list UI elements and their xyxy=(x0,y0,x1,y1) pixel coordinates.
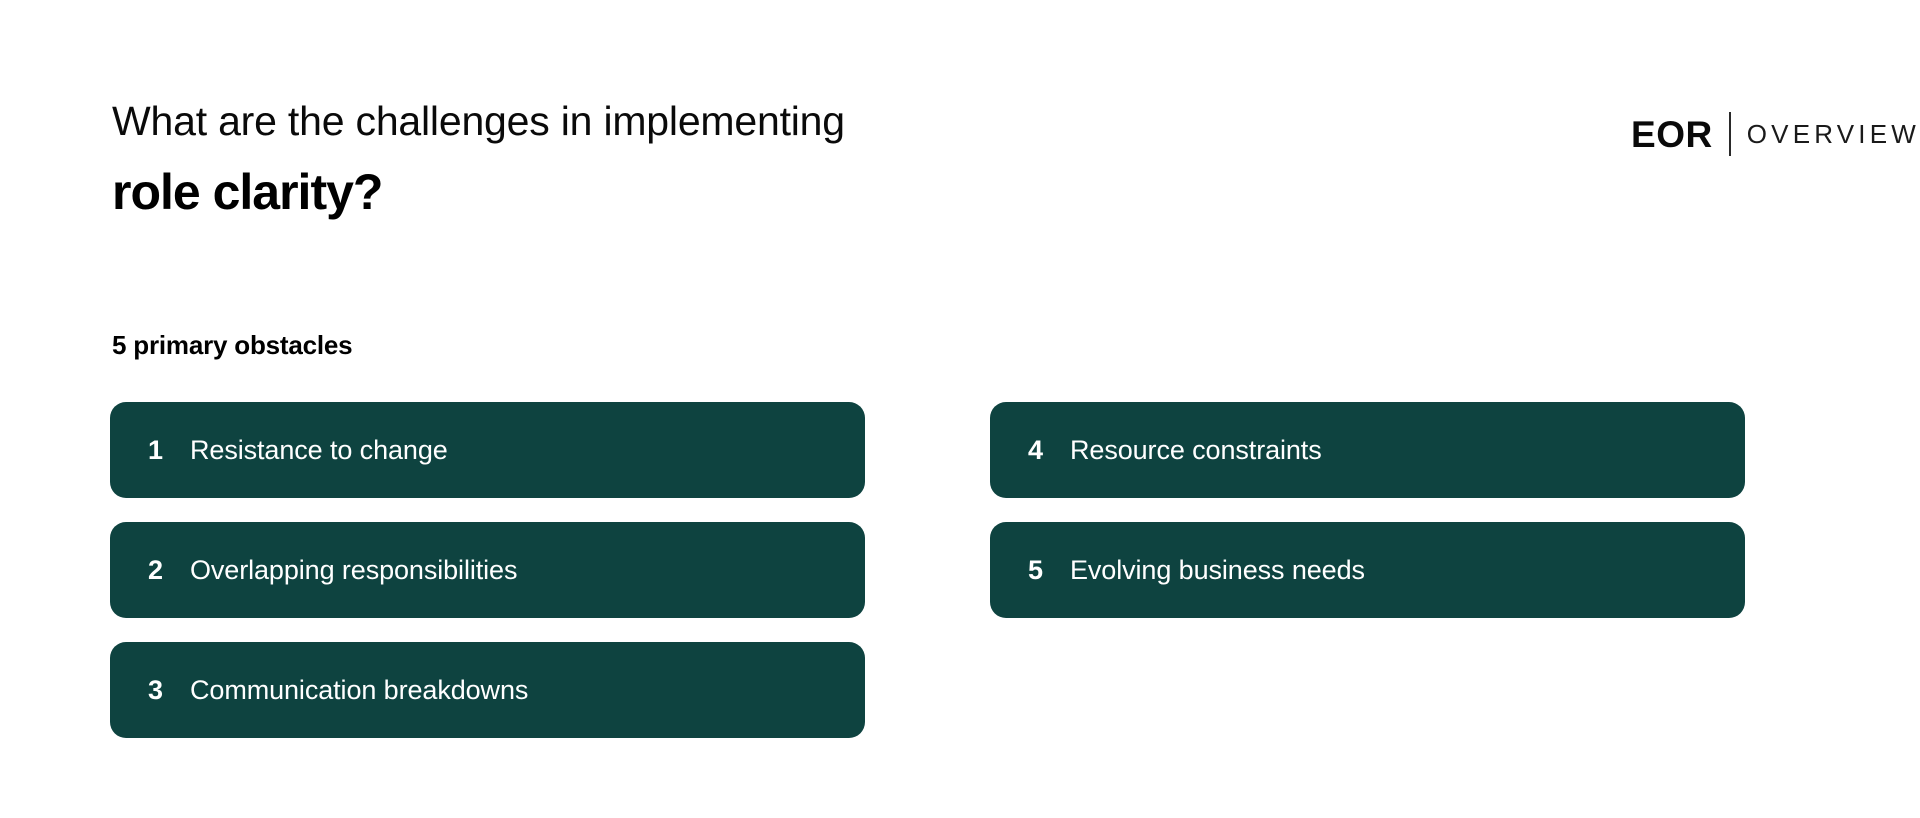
obstacle-card[interactable]: 3 Communication breakdowns xyxy=(110,642,865,738)
obstacle-card-grid: 1 Resistance to change 4 Resource constr… xyxy=(110,402,1750,738)
obstacle-card[interactable]: 4 Resource constraints xyxy=(990,402,1745,498)
obstacle-card[interactable]: 2 Overlapping responsibilities xyxy=(110,522,865,618)
obstacle-number: 3 xyxy=(148,677,170,704)
page-title-line-2: role clarity? xyxy=(112,162,845,222)
brand-subtitle-text: OVERVIEW xyxy=(1747,121,1920,147)
vertical-divider-icon xyxy=(1729,112,1731,156)
section-label: 5 primary obstacles xyxy=(112,330,352,361)
slide-canvas: What are the challenges in implementing … xyxy=(0,0,1920,818)
slide-header: What are the challenges in implementing … xyxy=(0,0,1920,260)
obstacle-number: 2 xyxy=(148,557,170,584)
obstacle-label: Evolving business needs xyxy=(1070,557,1365,584)
obstacle-label: Resistance to change xyxy=(190,437,448,464)
brand-mark-text: EOR xyxy=(1631,116,1713,153)
obstacle-card[interactable]: 1 Resistance to change xyxy=(110,402,865,498)
obstacle-card[interactable]: 5 Evolving business needs xyxy=(990,522,1745,618)
obstacle-number: 5 xyxy=(1028,557,1050,584)
obstacle-label: Resource constraints xyxy=(1070,437,1322,464)
obstacle-label: Communication breakdowns xyxy=(190,677,528,704)
obstacle-number: 1 xyxy=(148,437,170,464)
obstacle-number: 4 xyxy=(1028,437,1050,464)
page-title-line-1: What are the challenges in implementing xyxy=(112,96,845,146)
page-title: What are the challenges in implementing … xyxy=(112,96,845,222)
obstacle-label: Overlapping responsibilities xyxy=(190,557,517,584)
